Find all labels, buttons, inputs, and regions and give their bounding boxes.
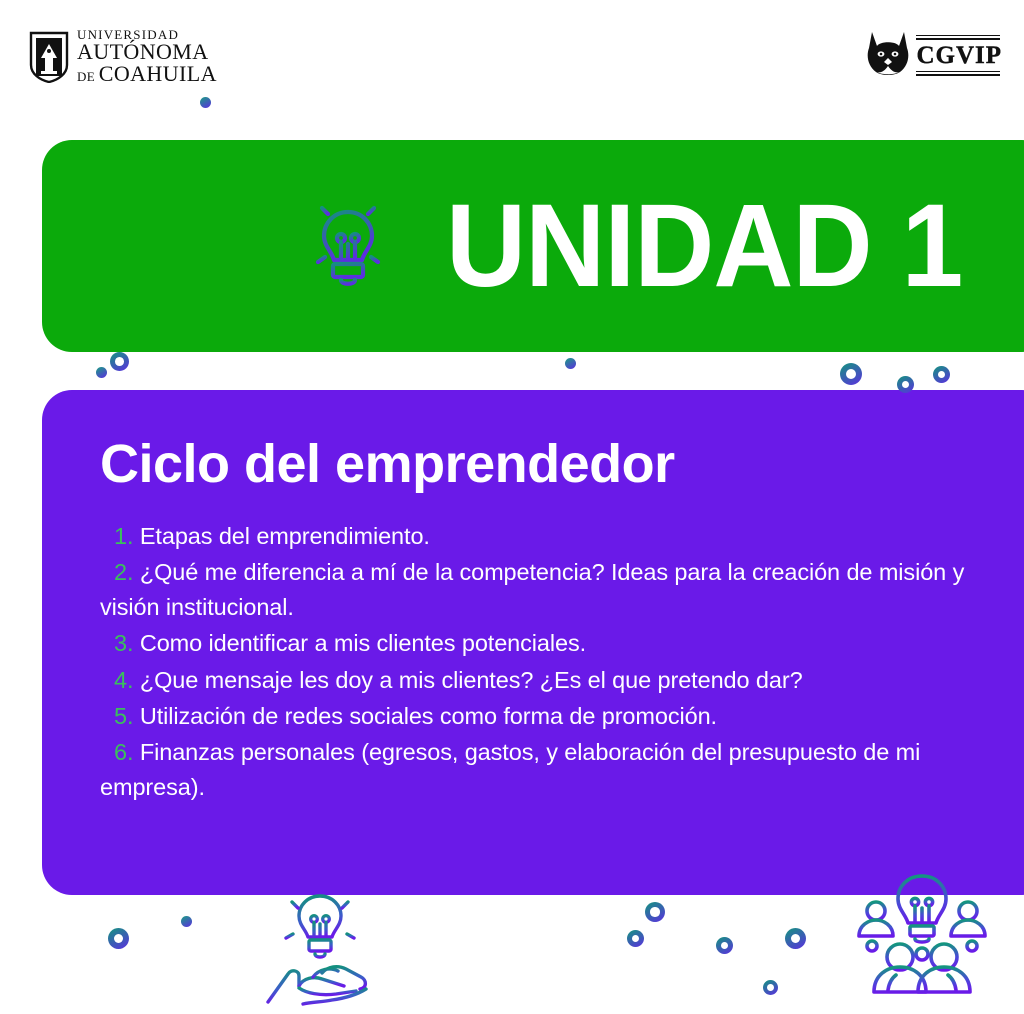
cgvip-rule-bottom-1 bbox=[916, 71, 1000, 73]
wolf-head-icon bbox=[864, 28, 912, 78]
unit-title: UNIDAD 1 bbox=[446, 187, 962, 305]
list-item-text: ¿Que mensaje les doy a mis clientes? ¿Es… bbox=[140, 667, 803, 693]
list-item-number: 3. bbox=[114, 630, 133, 656]
hand-holding-lightbulb-icon bbox=[258, 890, 398, 1008]
page-title: Ciclo del emprendedor bbox=[100, 436, 1004, 493]
decorative-ring bbox=[763, 980, 778, 995]
decorative-dot bbox=[200, 97, 211, 108]
university-line-3-prefix: DE bbox=[77, 69, 99, 84]
decorative-ring bbox=[933, 366, 950, 383]
ring-hole bbox=[767, 984, 774, 991]
decorative-ring bbox=[645, 902, 665, 922]
decorative-ring bbox=[840, 363, 862, 385]
list-item-text: Utilización de redes sociales como forma… bbox=[140, 703, 717, 729]
list-item-text: ¿Qué me diferencia a mí de la competenci… bbox=[100, 559, 964, 620]
ring-hole bbox=[115, 357, 124, 366]
unit-banner: UNIDAD 1 bbox=[42, 140, 1024, 352]
team-lightbulb-icon bbox=[852, 872, 992, 1004]
cgvip-rule-bottom-2 bbox=[916, 74, 1000, 76]
ring-hole bbox=[902, 381, 910, 389]
university-shield-icon bbox=[28, 31, 70, 83]
list-item: 1. Etapas del emprendimiento. bbox=[100, 519, 1004, 554]
ring-hole bbox=[650, 907, 659, 916]
list-item: 2. ¿Qué me diferencia a mí de la compete… bbox=[100, 555, 1004, 626]
university-logo: UNIVERSIDAD AUTÓNOMA DE COAHUILA bbox=[28, 28, 217, 85]
decorative-ring bbox=[627, 930, 644, 947]
decorative-ring bbox=[110, 352, 129, 371]
ring-hole bbox=[721, 942, 729, 950]
cgvip-logo: CGVIP bbox=[864, 28, 1002, 78]
lightbulb-icon bbox=[300, 192, 396, 300]
ring-hole bbox=[791, 934, 801, 944]
list-item: 6. Finanzas personales (egresos, gastos,… bbox=[100, 735, 1004, 806]
cgvip-rule-top-1 bbox=[916, 35, 1000, 37]
ring-hole bbox=[938, 371, 946, 379]
cgvip-rule-top-2 bbox=[916, 38, 1000, 40]
ring-hole bbox=[632, 935, 640, 943]
decorative-dot bbox=[181, 916, 192, 927]
university-line-2: AUTÓNOMA bbox=[77, 41, 217, 63]
header-logo-bar: UNIVERSIDAD AUTÓNOMA DE COAHUILA CGVIP bbox=[0, 0, 1024, 118]
university-line-3-main: COAHUILA bbox=[99, 61, 217, 86]
list-item-text: Finanzas personales (egresos, gastos, y … bbox=[100, 739, 920, 800]
list-item-number: 1. bbox=[114, 523, 133, 549]
list-item-number: 5. bbox=[114, 703, 133, 729]
list-item-text: Etapas del emprendimiento. bbox=[140, 523, 430, 549]
list-item-number: 6. bbox=[114, 739, 133, 765]
content-card: Ciclo del emprendedor 1. Etapas del empr… bbox=[42, 390, 1024, 895]
list-item-text: Como identificar a mis clientes potencia… bbox=[140, 630, 586, 656]
list-item: 5. Utilización de redes sociales como fo… bbox=[100, 699, 1004, 734]
decorative-dot bbox=[565, 358, 576, 369]
topic-list: 1. Etapas del emprendimiento. 2. ¿Qué me… bbox=[100, 519, 1004, 806]
cgvip-text: CGVIP bbox=[916, 43, 1002, 68]
cgvip-wordmark: CGVIP bbox=[916, 30, 1002, 77]
decorative-ring bbox=[108, 928, 129, 949]
list-item-number: 4. bbox=[114, 667, 133, 693]
ring-hole bbox=[114, 934, 124, 944]
list-item: 3. Como identificar a mis clientes poten… bbox=[100, 626, 1004, 661]
decorative-dot bbox=[96, 367, 107, 378]
decorative-ring bbox=[897, 376, 914, 393]
slide-canvas: UNIVERSIDAD AUTÓNOMA DE COAHUILA CGVIP bbox=[0, 0, 1024, 1014]
decorative-ring bbox=[785, 928, 806, 949]
decorative-ring bbox=[716, 937, 733, 954]
list-item: 4. ¿Que mensaje les doy a mis clientes? … bbox=[100, 663, 1004, 698]
university-wordmark: UNIVERSIDAD AUTÓNOMA DE COAHUILA bbox=[77, 28, 217, 85]
list-item-number: 2. bbox=[114, 559, 133, 585]
university-line-3: DE COAHUILA bbox=[77, 63, 217, 85]
ring-hole bbox=[846, 369, 856, 379]
